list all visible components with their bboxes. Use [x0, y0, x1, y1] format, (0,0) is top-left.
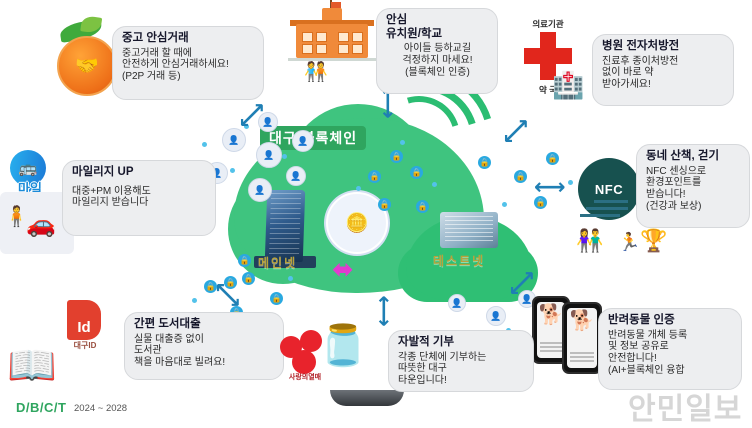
network-dot [432, 182, 437, 187]
open-book-glyph: 📖 [7, 342, 57, 389]
avatar: 👤 [222, 128, 246, 152]
safe-trade-badge-icon: 🤝 [57, 36, 117, 96]
lock-icon: 🔒 [270, 292, 283, 305]
arrow-to-donation: ⟷ [373, 295, 395, 327]
bubble-title: 안심 유치원/학교 [386, 14, 489, 41]
network-dot [502, 202, 507, 207]
bubble-title: 반려동물 인증 [608, 314, 733, 328]
medical-institution-icon: 의료기관 약 국 🏥 [508, 18, 588, 114]
school-window [302, 32, 313, 42]
bubble-title: 자발적 기부 [398, 336, 525, 350]
bubble-title: 병원 전자처방전 [602, 40, 725, 54]
students-glyph: 🧑‍🤝‍🧑 [304, 60, 328, 84]
school-window [316, 44, 327, 54]
network-dot [568, 180, 573, 185]
arrow-to-nfc: ⟷ [534, 176, 566, 198]
nfc-line [586, 207, 628, 210]
network-dot [202, 142, 207, 147]
school-window [352, 32, 363, 42]
donation-tray [330, 390, 404, 406]
lock-icon: 🔒 [546, 152, 559, 165]
network-dot [356, 186, 361, 191]
dog-glyph: 🐕 [570, 311, 595, 331]
school-illustration: 🧑‍🤝‍🧑 [286, 6, 378, 90]
daegu-id-book-icon: Id 대구ID 📖 [55, 300, 119, 360]
infographic-canvas: 🪙 ⬌ 대구 블록체인 메인넷 테스트넷 🔒 🔒 🔒 🔒 🔒 🔒 🔒 👤 👤 👤… [0, 0, 752, 424]
bubble-pet-certification: 반려동물 인증 반려동물 개체 등록 및 정보 공유로 안전합니다! (AI+블… [598, 308, 742, 390]
phone-screen: 🐕 [537, 302, 565, 358]
id-badge: Id [67, 300, 101, 340]
lock-icon: 🔒 [242, 272, 255, 285]
lock-icon: 🔒 [390, 150, 403, 163]
nfc-icon: NFC [578, 158, 640, 220]
school-window [316, 32, 327, 42]
dog-glyph: 🐕 [539, 305, 564, 325]
lock-icon: 🔒 [478, 156, 491, 169]
bubble-safe-school: 안심 유치원/학교 아이들 등하교길 걱정하지 마세요! (블록체인 인증) [376, 8, 498, 94]
lock-icon: 🔒 [410, 166, 423, 179]
bubble-body: 각종 단체에 기부하는 따뜻한 대구 타운입니다! [398, 352, 525, 387]
bubble-secondhand-trade: 중고 안심거래 중고거래 할 때에 안전하게 안심거래하세요! (P2P 거래 … [112, 26, 264, 100]
mainnet-label: 메인넷 [258, 254, 297, 271]
press-watermark: 안민일보 [628, 384, 742, 428]
bubble-title: 중고 안심거래 [122, 32, 255, 46]
bubble-voluntary-donation: 자발적 기부 각종 단체에 기부하는 따뜻한 대구 타운입니다! [388, 330, 534, 392]
phone-screen: 🐕 [567, 308, 597, 368]
network-dot [288, 276, 293, 281]
bubble-body: 아이들 등하교길 걱정하지 마세요! (블록체인 인증) [386, 43, 489, 78]
screen-line [540, 346, 562, 348]
school-window [338, 44, 349, 54]
network-dot [400, 140, 405, 145]
network-dot [230, 168, 235, 173]
lock-icon: 🔒 [378, 198, 391, 211]
bubble-body: 진료후 종이처방전 없이 바로 약 받아가세요! [602, 56, 725, 91]
screen-line [570, 360, 594, 362]
pet-phone-front: 🐕 [562, 302, 602, 374]
mainnet-testnet-swap-icon: ⬌ [332, 256, 354, 282]
screen-line [540, 342, 562, 344]
nfc-label: NFC [595, 182, 623, 197]
lock-icon: 🔒 [416, 200, 429, 213]
bubble-title: 간편 도서대출 [134, 318, 275, 332]
coin-glyph: 🪙 [345, 211, 369, 235]
bubble-body: 대중+PM 이용해도 마일리지 받습니다 [72, 186, 207, 210]
bubble-title: 마일리지 UP [72, 166, 207, 180]
school-window [352, 44, 363, 54]
fruit-caption: 사랑의열매 [276, 372, 334, 382]
bubble-body: 반려동물 개체 등록 및 정보 공유로 안전합니다! (AI+블록체인 융합 [608, 330, 733, 377]
avatar: 👤 [256, 142, 282, 168]
pharmacy-glyph: 🏥 [552, 70, 584, 101]
lock-icon: 🔒 [514, 170, 527, 183]
nfc-line [580, 214, 620, 217]
school-ground [288, 58, 376, 61]
screen-line [540, 350, 562, 352]
lock-icon: 🔒 [368, 170, 381, 183]
handshake-glyph: 🤝 [75, 54, 99, 78]
school-window [302, 44, 313, 54]
bubble-title: 동네 산책, 걷기 [646, 150, 741, 164]
bubble-mileage: 마일리지 UP 대중+PM 이용해도 마일리지 받습니다 [62, 160, 216, 236]
network-dot [282, 154, 287, 159]
screen-line [570, 352, 594, 354]
school-window [338, 32, 349, 42]
avatar: 👤 [292, 130, 314, 152]
runner-glyph: 🏃 [618, 232, 640, 253]
phone-screen-lines [570, 352, 594, 364]
trophy-glyph: 🏆 [640, 228, 667, 254]
project-years: 2024 ~ 2028 [74, 403, 127, 414]
avatar: 👤 [248, 178, 272, 202]
dbct-logo: D/B/C/T [16, 400, 66, 415]
fruit-circle [292, 350, 316, 374]
screen-line [570, 356, 594, 358]
walkers-glyph: 👫 [576, 228, 603, 254]
bubble-body: 중고거래 할 때에 안전하게 안심거래하세요! (P2P 거래 등) [122, 48, 255, 83]
avatar: 👤 [486, 306, 506, 326]
bus-glyph: 🚌 [19, 159, 38, 177]
lock-icon: 🔒 [238, 254, 251, 267]
avatar: 👤 [448, 294, 466, 312]
donation-jar-glyph: 🫙 [318, 322, 368, 369]
testnet-label: 테스트넷 [433, 252, 485, 269]
id-caption: 대구ID [55, 340, 115, 351]
nfc-line [594, 200, 628, 203]
avatar: 👤 [286, 166, 306, 186]
medical-top-label: 의료기관 [508, 18, 588, 30]
car-glyph: 🚗 [26, 210, 56, 239]
bubble-neighborhood-walk: 동네 산책, 걷기 NFC 센싱으로 환경포인트를 받습니다! (건강과 보상) [636, 144, 750, 228]
bubble-hospital-prescription: 병원 전자처방전 진료후 종이처방전 없이 바로 약 받아가세요! [592, 34, 734, 106]
bubble-library-loan: 간편 도서대출 실물 대출증 없이 도서관 책을 마음대로 빌려요! [124, 312, 284, 380]
network-dot [192, 298, 197, 303]
phone-screen-lines [540, 342, 562, 354]
bubble-body: 실물 대출증 없이 도서관 책을 마음대로 빌려요! [134, 334, 275, 369]
bubble-body: NFC 센싱으로 환경포인트를 받습니다! (건강과 보상) [646, 166, 741, 213]
